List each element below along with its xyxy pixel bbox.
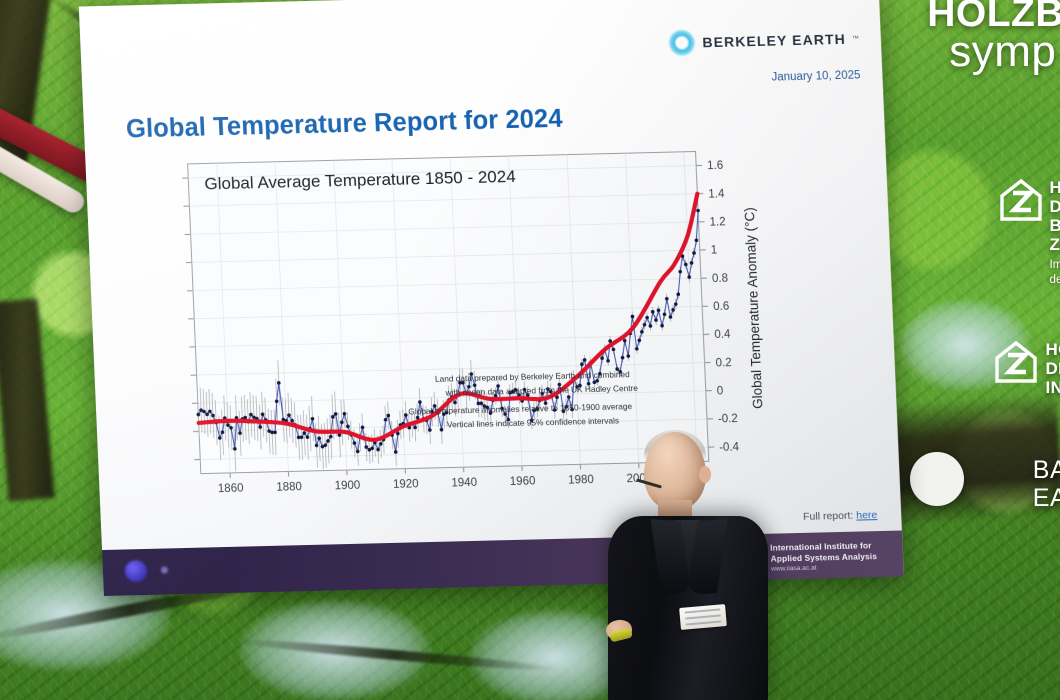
sponsor2-line-2: INSTIT <box>1045 378 1060 397</box>
svg-text:0.8: 0.8 <box>712 273 729 285</box>
full-report-label: Full report: <box>803 510 854 523</box>
presenter <box>600 424 800 700</box>
sponsor2-line-0: HOLZB <box>1045 340 1060 359</box>
sponsor1-line-2: BUNDE <box>1050 216 1060 235</box>
berkeley-earth-brand: BERKELEY EARTH ™ January 10, 2025 <box>666 23 861 86</box>
svg-text:1860: 1860 <box>218 483 244 496</box>
svg-text:1.6: 1.6 <box>707 160 724 172</box>
svg-text:0.2: 0.2 <box>715 357 732 369</box>
svg-text:1: 1 <box>711 245 718 257</box>
svg-text:1940: 1940 <box>451 477 477 490</box>
sponsor2-line-1: DEUTS <box>1045 359 1060 378</box>
house-z-logo-icon <box>999 178 1043 222</box>
sponsor1-line-0: HOLZ <box>1050 178 1060 197</box>
symposium-headline: HOLZB symp <box>927 0 1060 72</box>
y-axis-title: Global Temperature Anomaly (°C) <box>742 207 766 409</box>
svg-text:1880: 1880 <box>276 481 302 494</box>
sponsor3-line-0: BAU <box>1033 456 1060 484</box>
slide-date: January 10, 2025 <box>668 69 861 86</box>
page-title: Global Temperature Report for 2024 <box>125 105 563 145</box>
headline-line-2: symp <box>949 32 1060 72</box>
svg-text:1980: 1980 <box>568 474 594 487</box>
svg-text:1.4: 1.4 <box>708 188 725 200</box>
svg-text:0.6: 0.6 <box>713 301 730 313</box>
berkeley-earth-ring-icon <box>666 27 697 58</box>
house-z-logo-icon <box>994 340 1038 384</box>
presenter-head <box>644 432 706 510</box>
svg-text:1960: 1960 <box>510 475 536 488</box>
svg-text:1900: 1900 <box>334 480 360 493</box>
white-circle-mark-icon <box>910 452 964 506</box>
full-report-link[interactable]: here <box>856 509 878 522</box>
svg-text:1920: 1920 <box>393 478 419 491</box>
footer-accent-dot <box>125 560 148 583</box>
name-badge <box>679 604 727 630</box>
screenshot-stage: HOLZB symp HOLZ DEUTS BUNDE ZIMME Im Zen… <box>0 0 1060 700</box>
svg-text:0.4: 0.4 <box>714 329 731 341</box>
svg-text:1.2: 1.2 <box>709 216 726 228</box>
sponsor2-words: HOLZB DEUTS INSTIT <box>1045 340 1060 397</box>
presenter-ear <box>699 466 711 483</box>
sponsor-logo-1: HOLZ DEUTS BUNDE ZIMME Im Zentrum des De… <box>999 178 1060 287</box>
brand-name: BERKELEY EARTH <box>702 31 846 50</box>
sponsor-logo-2: HOLZB DEUTS INSTIT <box>994 340 1060 397</box>
sponsor1-sub-1: des Deuts <box>1050 273 1060 287</box>
sponsor1-sub: Im Zentrum des Deuts <box>1050 258 1060 287</box>
full-report: Full report: here <box>803 509 878 523</box>
footer-accent-dot-small <box>161 566 168 573</box>
sponsor1-line-3: ZIMME <box>1050 235 1060 254</box>
svg-text:0: 0 <box>717 385 724 397</box>
sponsor1-words: HOLZ DEUTS BUNDE ZIMME <box>1050 178 1060 254</box>
sponsor3-line-1: EAR <box>1033 484 1060 512</box>
sponsor1-sub-0: Im Zentrum <box>1050 258 1060 272</box>
brand-trademark: ™ <box>852 35 859 42</box>
sponsor-logo-3: BAU EAR <box>1033 456 1060 512</box>
sponsor1-line-1: DEUTS <box>1050 197 1060 216</box>
